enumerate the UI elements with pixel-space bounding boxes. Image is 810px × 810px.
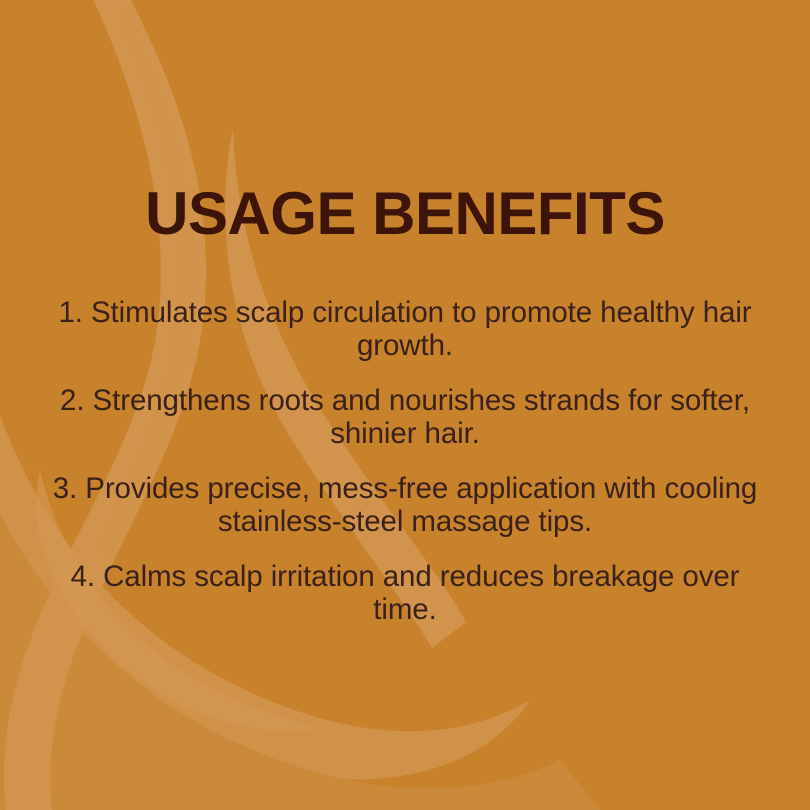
usage-benefits-poster: USAGE BENEFITS 1. Stimulates scalp circu… — [0, 0, 810, 810]
benefit-item-3: 3. Provides precise, mess-free applicati… — [50, 472, 760, 538]
page-title: USAGE BENEFITS — [0, 182, 810, 245]
poster-content: USAGE BENEFITS 1. Stimulates scalp circu… — [0, 0, 810, 810]
benefit-item-1: 1. Stimulates scalp circulation to promo… — [50, 296, 760, 362]
benefit-item-2: 2. Strengthens roots and nourishes stran… — [50, 384, 760, 450]
benefits-list: 1. Stimulates scalp circulation to promo… — [50, 296, 760, 626]
benefit-item-4: 4. Calms scalp irritation and reduces br… — [50, 560, 760, 626]
